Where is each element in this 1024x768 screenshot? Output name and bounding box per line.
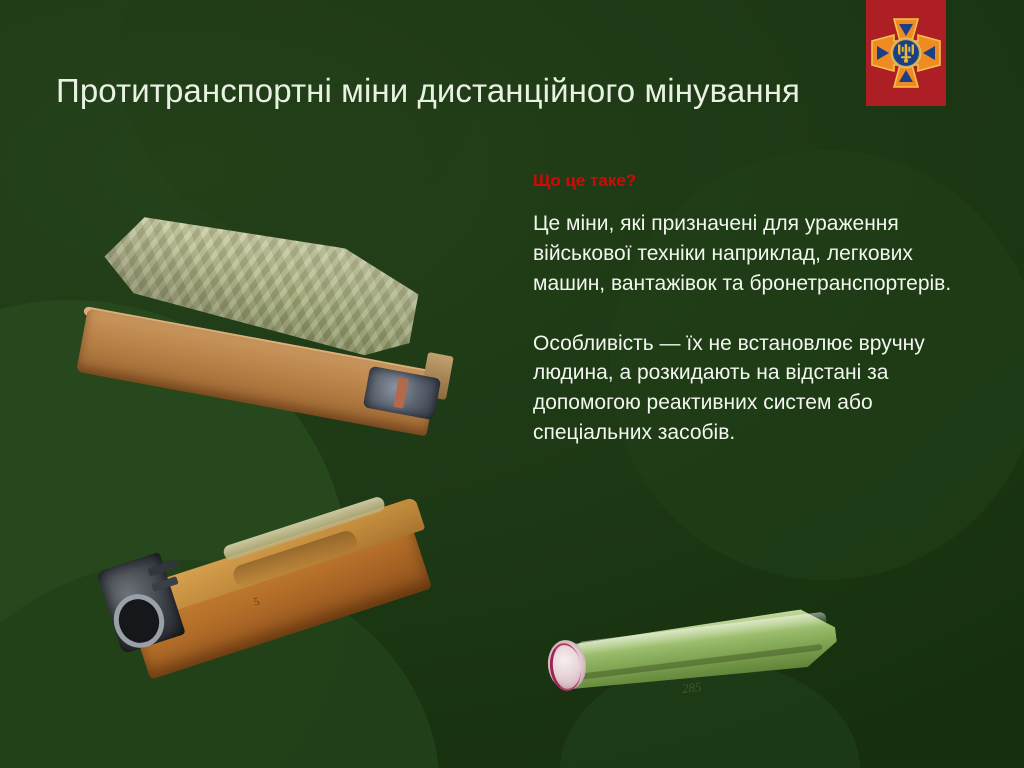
slide-title: Протитранспортні міни дистанційного міну…	[56, 68, 846, 114]
dsns-emblem-icon	[866, 0, 946, 106]
photo-orange-mine: 5	[108, 468, 440, 668]
paragraph-characteristic: Особливість — їх не встановлює вручну лю…	[533, 329, 953, 448]
photo-green-mine: 285	[542, 622, 872, 722]
dsns-emblem-logo	[866, 0, 946, 106]
paragraph-definition: Це міни, які призначені для ураження вій…	[533, 209, 953, 298]
content-text-column: Що це таке? Це міни, які призначені для …	[533, 170, 953, 448]
section-heading: Що це таке?	[533, 170, 953, 192]
slide-canvas: Протитранспортні міни дистанційного міну…	[0, 0, 1024, 768]
green-mine-marking: 285	[681, 679, 702, 697]
photo-covered-mine	[78, 196, 460, 444]
